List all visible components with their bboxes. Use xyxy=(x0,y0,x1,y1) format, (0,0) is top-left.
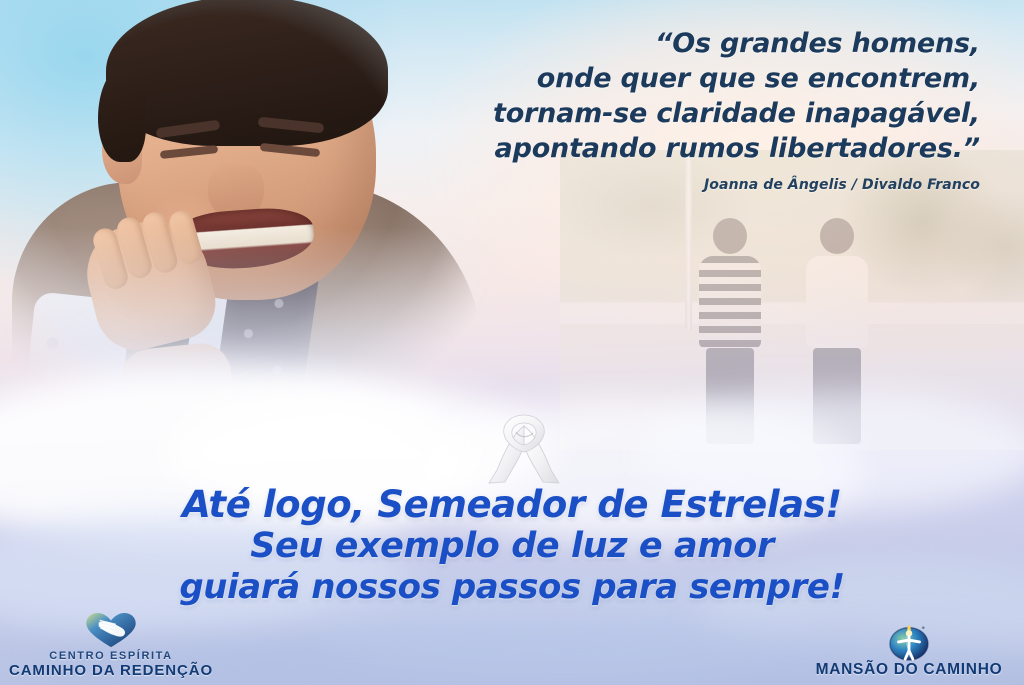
background-photo-person-white xyxy=(806,218,868,444)
logo-right-line-2: MANSÃO DO CAMINHO xyxy=(802,661,1016,679)
quote-line-4: apontando rumos libertadores.” xyxy=(420,131,980,166)
logo-centro-espirita: CENTRO ESPÍRITA CAMINHO DA REDENÇÃO xyxy=(6,610,216,679)
quote-author: Joanna de Ângelis / Divaldo Franco xyxy=(420,177,980,193)
quote-block: “Os grandes homens, onde quer que se enc… xyxy=(420,26,980,193)
headline-line-3: guiará nossos passos para sempre! xyxy=(0,567,1024,607)
background-photo xyxy=(560,150,1024,450)
white-mourning-ribbon-icon xyxy=(483,410,565,488)
headline: Até logo, Semeador de Estrelas! Seu exem… xyxy=(0,484,1024,607)
heart-hands-icon xyxy=(6,610,216,650)
headline-line-2: Seu exemplo de luz e amor xyxy=(0,526,1024,567)
globe-figure-flame-icon xyxy=(802,621,1016,661)
quote-line-1: “Os grandes homens, xyxy=(420,26,980,61)
background-photo-ground xyxy=(560,324,1024,450)
memorial-poster: “Os grandes homens, onde quer que se enc… xyxy=(0,0,1024,685)
logo-left-line-2: CAMINHO DA REDENÇÃO xyxy=(6,662,216,679)
quote-line-2: onde quer que se encontrem, xyxy=(420,61,980,96)
quote-line-3: tornam-se claridade inapagável, xyxy=(420,96,980,131)
logo-left-line-1: CENTRO ESPÍRITA xyxy=(6,650,216,662)
background-photo-person-striped xyxy=(699,218,761,444)
headline-line-1: Até logo, Semeador de Estrelas! xyxy=(0,484,1024,526)
logo-mansao-do-caminho: MANSÃO DO CAMINHO xyxy=(802,621,1016,679)
